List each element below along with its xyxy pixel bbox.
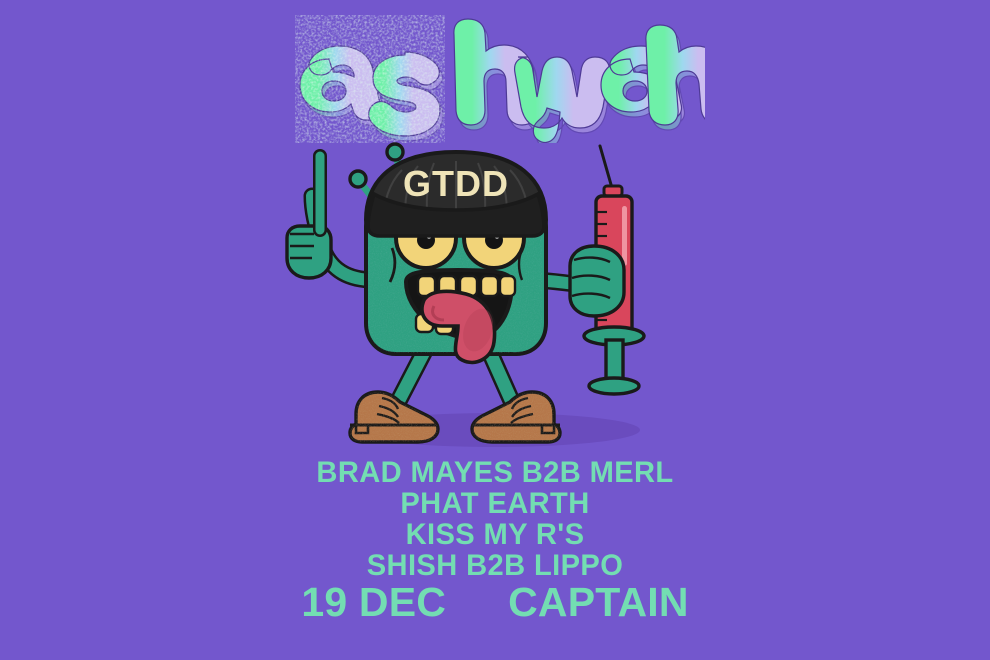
event-poster: GTDD BRAD MAYES B2B MERL PHAT EARTH KISS… — [0, 0, 990, 660]
logo-wordmark-ashwash — [0, 14, 990, 144]
lineup-line-4: SHISH B2B LIPPO — [15, 551, 975, 581]
right-boot — [472, 392, 560, 442]
lineup-line-2: PHAT EARTH — [15, 489, 975, 519]
syringe-prop — [570, 146, 644, 394]
beanie-hat: GTDD — [366, 152, 546, 236]
legs — [398, 348, 512, 402]
logo-letters — [295, 15, 705, 143]
left-boot — [350, 392, 438, 442]
event-venue: CAPTAIN — [508, 582, 689, 623]
character-svg: GTDD — [278, 130, 712, 460]
lineup-text-block: BRAD MAYES B2B MERL PHAT EARTH KISS MY R… — [0, 458, 990, 582]
logo-speckles — [295, 15, 445, 143]
lineup-line-3: KISS MY R'S — [15, 520, 975, 550]
footer-row: 19 DEC CAPTAIN — [0, 582, 990, 623]
event-date: 19 DEC — [301, 582, 446, 623]
lineup-line-1: BRAD MAYES B2B MERL — [15, 458, 975, 488]
syringe-thumb-pad — [589, 378, 639, 394]
monster-mascot-illustration: GTDD — [278, 130, 712, 460]
beanie-logo-text: GTDD — [403, 163, 509, 204]
right-hand — [570, 246, 624, 316]
syringe-needle — [600, 146, 612, 188]
logo-svg — [285, 15, 705, 143]
